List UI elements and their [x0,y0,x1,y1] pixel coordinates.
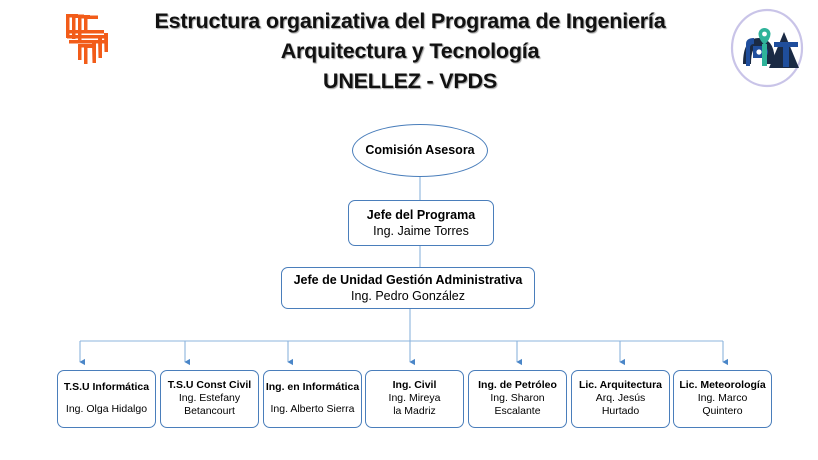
node-title: Ing. de Petróleo [478,379,557,391]
node-title: Lic. Arquitectura [579,379,662,391]
node-jefe-unidad-gestion-administrativa[interactable]: Jefe de Unidad Gestión Administrativa In… [281,267,535,309]
node-lic-arquitectura[interactable]: Lic. Arquitectura Arq. Jesús Hurtado [571,370,670,428]
node-subtitle-line-2: Betancourt [184,405,235,419]
org-chart: Comisión Asesora Jefe del Programa Ing. … [0,0,818,460]
node-title: Ing. en Informática [266,381,359,393]
node-subtitle: Ing. Pedro González [351,289,465,304]
node-title: Comisión Asesora [365,143,474,158]
node-subtitle-line-2: Quintero [702,405,742,419]
node-subtitle-line-1: Arq. Jesús [596,392,646,406]
node-subtitle-line-1: Ing. Sharon [490,392,544,406]
node-subtitle-line-2: la Madriz [393,405,436,419]
node-lic-meteorologia[interactable]: Lic. Meteorología Ing. Marco Quintero [673,370,772,428]
node-subtitle-line-1: Ing. Alberto Sierra [270,403,354,417]
node-ing-civil[interactable]: Ing. Civil Ing. Mireya la Madriz [365,370,464,428]
node-subtitle-line-1: Ing. Olga Hidalgo [66,403,147,417]
node-comision-asesora[interactable]: Comisión Asesora [352,124,488,177]
node-tsu-informatica[interactable]: T.S.U Informática Ing. Olga Hidalgo [57,370,156,428]
node-ing-en-informatica[interactable]: Ing. en Informática Ing. Alberto Sierra [263,370,362,428]
node-ing-de-petroleo[interactable]: Ing. de Petróleo Ing. Sharon Escalante [468,370,567,428]
node-subtitle-line-1: Ing. Marco [698,392,748,406]
node-title: Ing. Civil [393,379,437,391]
node-subtitle-line-2: Hurtado [602,405,639,419]
node-title: Lic. Meteorología [679,379,765,391]
node-title: Jefe del Programa [367,208,475,223]
node-jefe-del-programa[interactable]: Jefe del Programa Ing. Jaime Torres [348,200,494,246]
node-title: T.S.U Informática [64,381,149,393]
node-title: T.S.U Const Civil [168,379,251,391]
node-tsu-const-civil[interactable]: T.S.U Const Civil Ing. Estefany Betancou… [160,370,259,428]
node-subtitle-line-2: Escalante [494,405,540,419]
node-subtitle-line-1: Ing. Estefany [179,392,240,406]
node-subtitle: Ing. Jaime Torres [373,224,469,239]
node-title: Jefe de Unidad Gestión Administrativa [294,273,523,288]
node-subtitle-line-1: Ing. Mireya [389,392,441,406]
